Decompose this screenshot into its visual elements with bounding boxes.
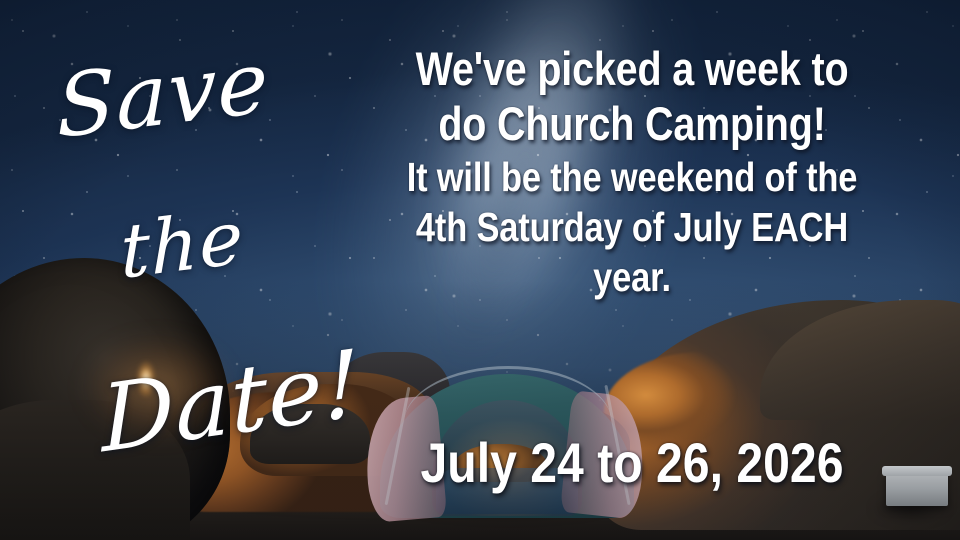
text-overlay: Save the Date! We've picked a week to do… [0,0,960,540]
save-the-date-poster: Save the Date! We've picked a week to do… [0,0,960,540]
script-word-date: Date! [100,338,363,467]
body-line-1: It will be the weekend of the [397,152,867,202]
announcement-text-block: We've picked a week to do Church Camping… [352,42,912,302]
body-line-3: year. [397,252,867,302]
body-line-2: 4th Saturday of July EACH [397,202,867,252]
script-word-the: the [120,200,245,290]
headline-line-2: do Church Camping! [397,97,867,152]
script-word-save: Save [56,39,270,152]
event-date-line: July 24 to 26, 2026 [391,432,873,494]
headline-line-1: We've picked a week to [397,42,867,97]
